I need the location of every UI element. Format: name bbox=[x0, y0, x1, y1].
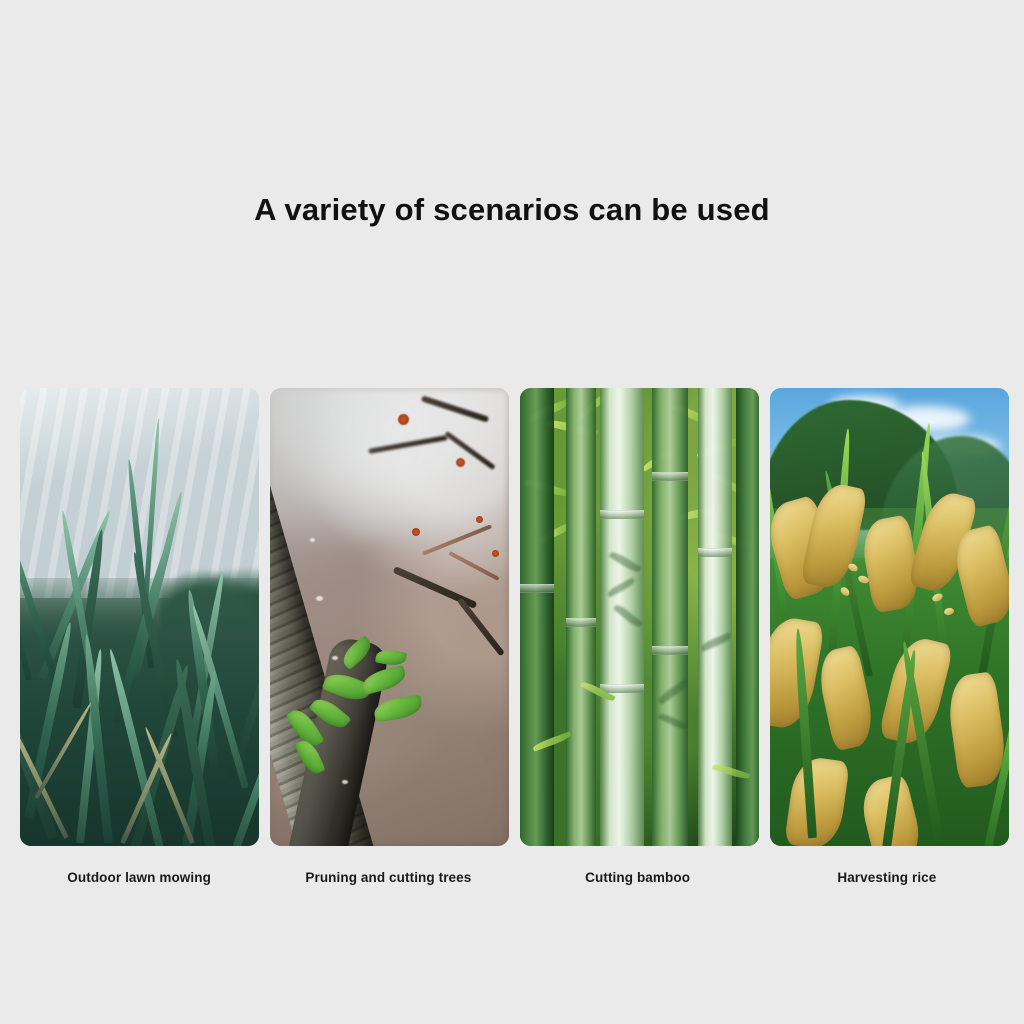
scenario-card-harvesting-rice[interactable] bbox=[770, 388, 1009, 846]
promo-page: A variety of scenarios can be used bbox=[0, 0, 1024, 1024]
caption-row: Outdoor lawn mowing Pruning and cutting … bbox=[20, 866, 1006, 900]
caption-pruning-and-cutting-trees: Pruning and cutting trees bbox=[269, 866, 507, 900]
page-title: A variety of scenarios can be used bbox=[0, 192, 1024, 228]
scenario-image-cutting-bamboo bbox=[520, 388, 759, 846]
scenario-card-outdoor-lawn-mowing[interactable] bbox=[20, 388, 259, 846]
scenario-gallery bbox=[20, 388, 1006, 846]
scenario-image-harvesting-rice bbox=[770, 388, 1009, 846]
caption-outdoor-lawn-mowing: Outdoor lawn mowing bbox=[20, 866, 258, 900]
scenario-image-outdoor-lawn-mowing bbox=[20, 388, 259, 846]
caption-harvesting-rice: Harvesting rice bbox=[768, 866, 1006, 900]
scenario-image-pruning-and-cutting-trees bbox=[270, 388, 509, 846]
caption-cutting-bamboo: Cutting bamboo bbox=[519, 866, 757, 900]
scenario-card-cutting-bamboo[interactable] bbox=[520, 388, 759, 846]
scenario-card-pruning-and-cutting-trees[interactable] bbox=[270, 388, 509, 846]
